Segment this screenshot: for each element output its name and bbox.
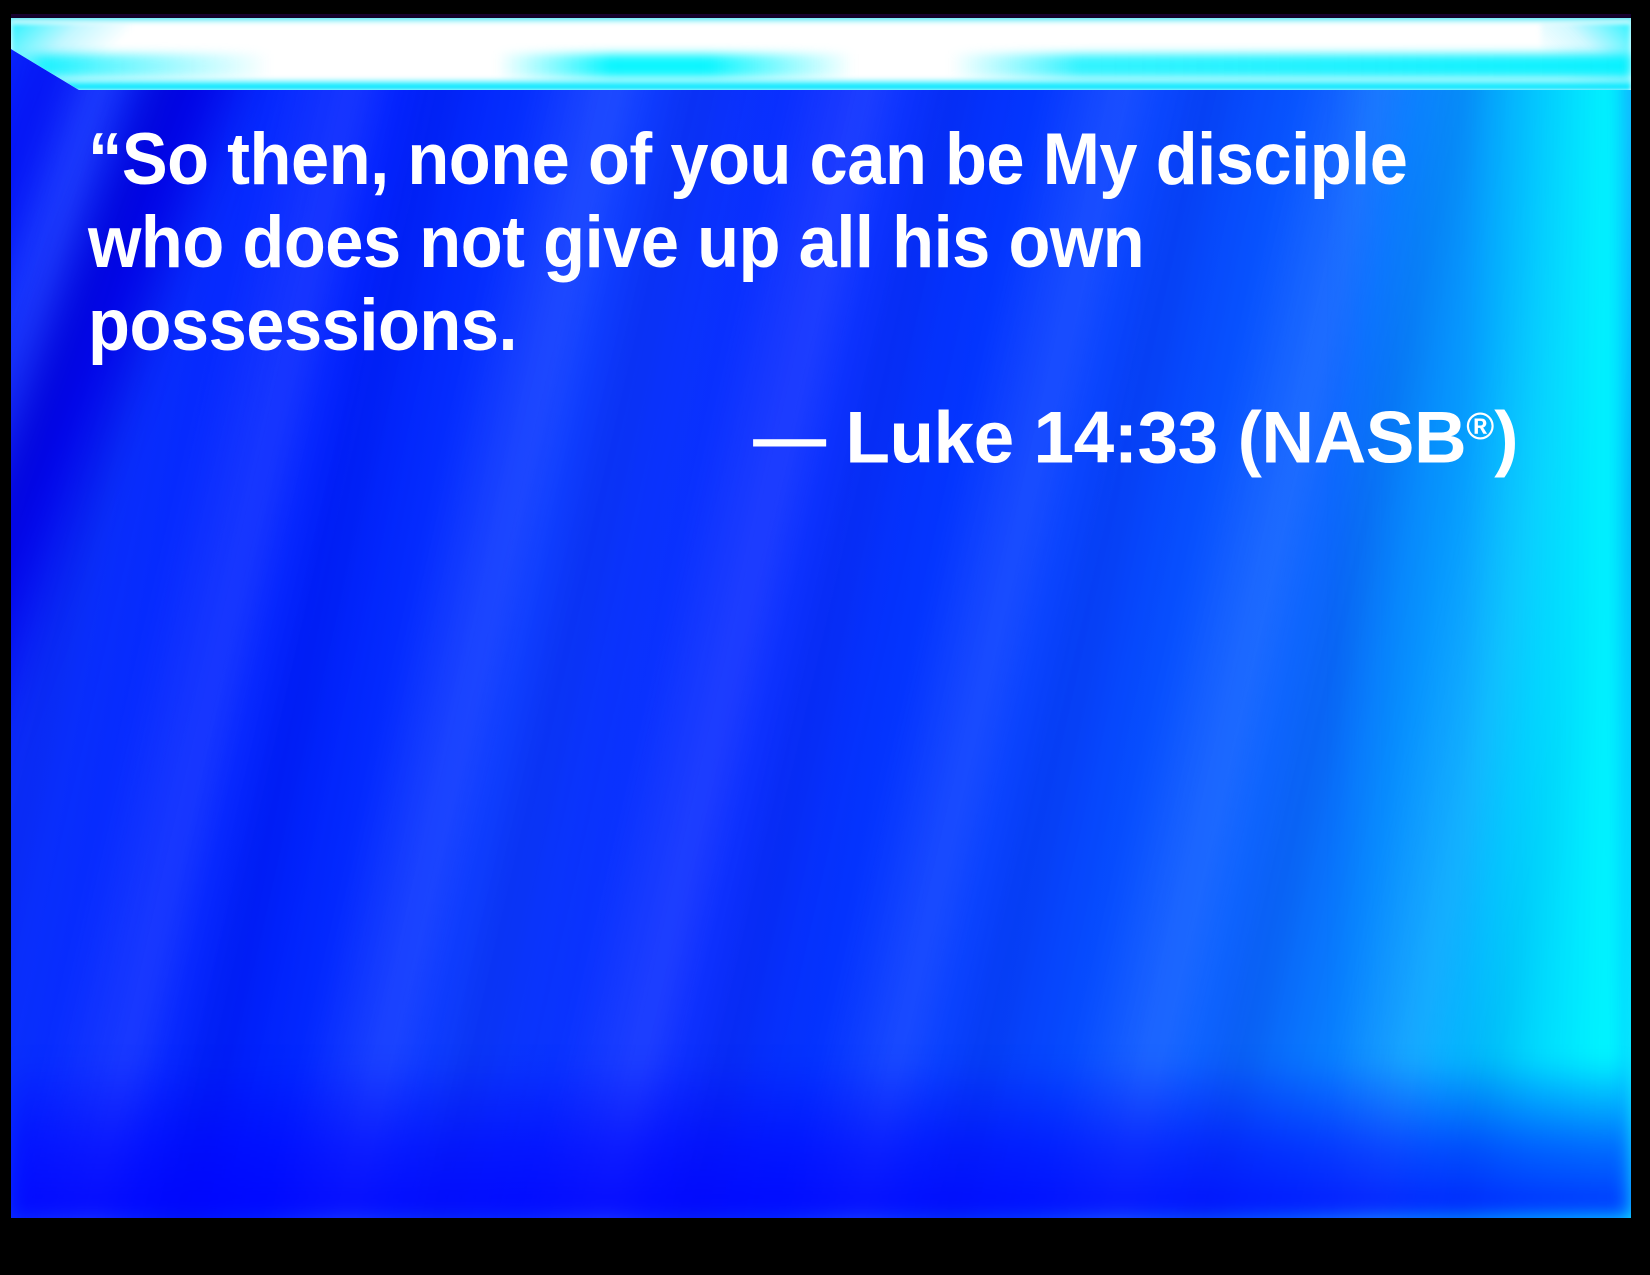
quote-block: “So then, none of you can be My disciple… <box>88 118 1518 367</box>
quote-line-1: “So then, none of you can be My disciple <box>88 118 1432 201</box>
attribution-version-open: (NASB <box>1238 398 1467 479</box>
attribution-line: — Luke 14:33 (NASB®) <box>88 386 1518 480</box>
registered-trademark-icon: ® <box>1466 406 1494 448</box>
top-rule <box>11 14 1631 18</box>
attribution-dash: — <box>753 398 826 479</box>
background-bottom-fade <box>11 1058 1631 1218</box>
header-bar-cyan-streak <box>11 54 1631 78</box>
attribution-book: Luke <box>845 398 1013 479</box>
quote-line-3: possessions. <box>88 284 1432 367</box>
attribution-reference: 14:33 <box>1034 398 1218 479</box>
slide-canvas: “So then, none of you can be My disciple… <box>11 14 1631 1218</box>
attribution-version-close: ) <box>1494 398 1518 479</box>
header-bar <box>11 14 1631 90</box>
quote-line-2: who does not give up all his own <box>88 201 1432 284</box>
scripture-quote-slide: “So then, none of you can be My disciple… <box>0 0 1650 1275</box>
header-bar-bottom-edge <box>11 78 1631 90</box>
